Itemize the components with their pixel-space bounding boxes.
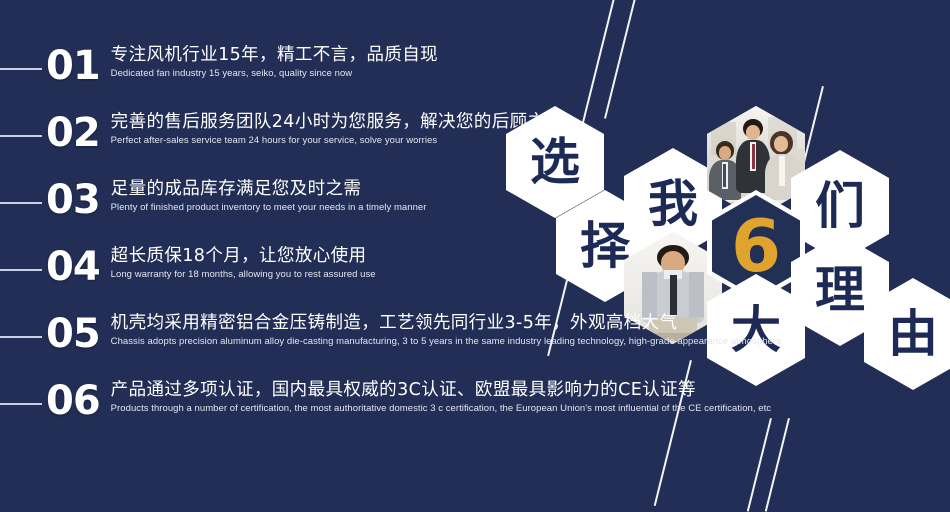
item-headline-cn: 产品通过多项认证，国内最具权威的3C认证、欧盟最具影响力的CE认证等	[111, 379, 771, 402]
list-item: 03 足量的成品库存满足您及时之需 Plenty of finished pro…	[0, 178, 700, 245]
list-item: 02 完善的售后服务团队24小时为您服务，解决您的后顾之忧 Perfect af…	[0, 111, 700, 178]
item-subtitle-en: Products through a number of certificati…	[111, 403, 771, 415]
item-text: 足量的成品库存满足您及时之需 Plenty of finished produc…	[111, 178, 700, 214]
list-item: 04 超长质保18个月，让您放心使用 Long warranty for 18 …	[0, 245, 700, 312]
item-text: 完善的售后服务团队24小时为您服务，解决您的后顾之忧 Perfect after…	[111, 111, 700, 147]
item-subtitle-en: Plenty of finished product inventory to …	[111, 202, 700, 214]
hexagon-number: 6	[731, 210, 781, 282]
item-number: 01	[46, 46, 100, 86]
item-headline-cn: 完善的售后服务团队24小时为您服务，解决您的后顾之忧	[111, 111, 700, 134]
item-subtitle-en: Long warranty for 18 months, allowing yo…	[111, 269, 700, 281]
leader-dash	[0, 202, 42, 204]
item-headline-cn: 专注风机行业15年，精工不言，品质自现	[111, 44, 700, 67]
item-subtitle-en: Perfect after-sales service team 24 hour…	[111, 135, 700, 147]
item-number: 02	[46, 113, 100, 153]
item-number: 03	[46, 180, 100, 220]
item-headline-cn: 超长质保18个月，让您放心使用	[111, 245, 700, 268]
item-text: 超长质保18个月，让您放心使用 Long warranty for 18 mon…	[111, 245, 700, 281]
hexagon-you: 由	[864, 278, 950, 390]
hexagon-character: 理	[815, 265, 865, 315]
hexagon-character: 们	[815, 181, 865, 231]
hexagon-character: 由	[888, 309, 938, 359]
item-text: 产品通过多项认证，国内最具权威的3C认证、欧盟最具影响力的CE认证等 Produ…	[111, 379, 771, 415]
item-subtitle-en: Chassis adopts precision aluminum alloy …	[111, 336, 782, 348]
item-headline-cn: 足量的成品库存满足您及时之需	[111, 178, 700, 201]
list-item: 05 机壳均采用精密铝合金压铸制造，工艺领先同行业3-5年，外观高档大气 Cha…	[0, 312, 700, 379]
list-item: 01 专注风机行业15年，精工不言，品质自现 Dedicated fan ind…	[0, 44, 700, 111]
item-text: 专注风机行业15年，精工不言，品质自现 Dedicated fan indust…	[111, 44, 700, 80]
leader-dash	[0, 403, 42, 405]
leader-dash	[0, 68, 42, 70]
item-text: 机壳均采用精密铝合金压铸制造，工艺领先同行业3-5年，外观高档大气 Chassi…	[111, 312, 782, 348]
leader-dash	[0, 336, 42, 338]
item-subtitle-en: Dedicated fan industry 15 years, seiko, …	[111, 68, 700, 80]
reasons-list: 01 专注风机行业15年，精工不言，品质自现 Dedicated fan ind…	[0, 44, 700, 446]
leader-dash	[0, 269, 42, 271]
item-number: 05	[46, 314, 100, 354]
item-number: 04	[46, 247, 100, 287]
item-number: 06	[46, 381, 100, 421]
hexagon-shape: 由	[864, 278, 950, 390]
list-item: 06 产品通过多项认证，国内最具权威的3C认证、欧盟最具影响力的CE认证等 Pr…	[0, 379, 700, 446]
item-headline-cn: 机壳均采用精密铝合金压铸制造，工艺领先同行业3-5年，外观高档大气	[111, 312, 782, 335]
leader-dash	[0, 135, 42, 137]
